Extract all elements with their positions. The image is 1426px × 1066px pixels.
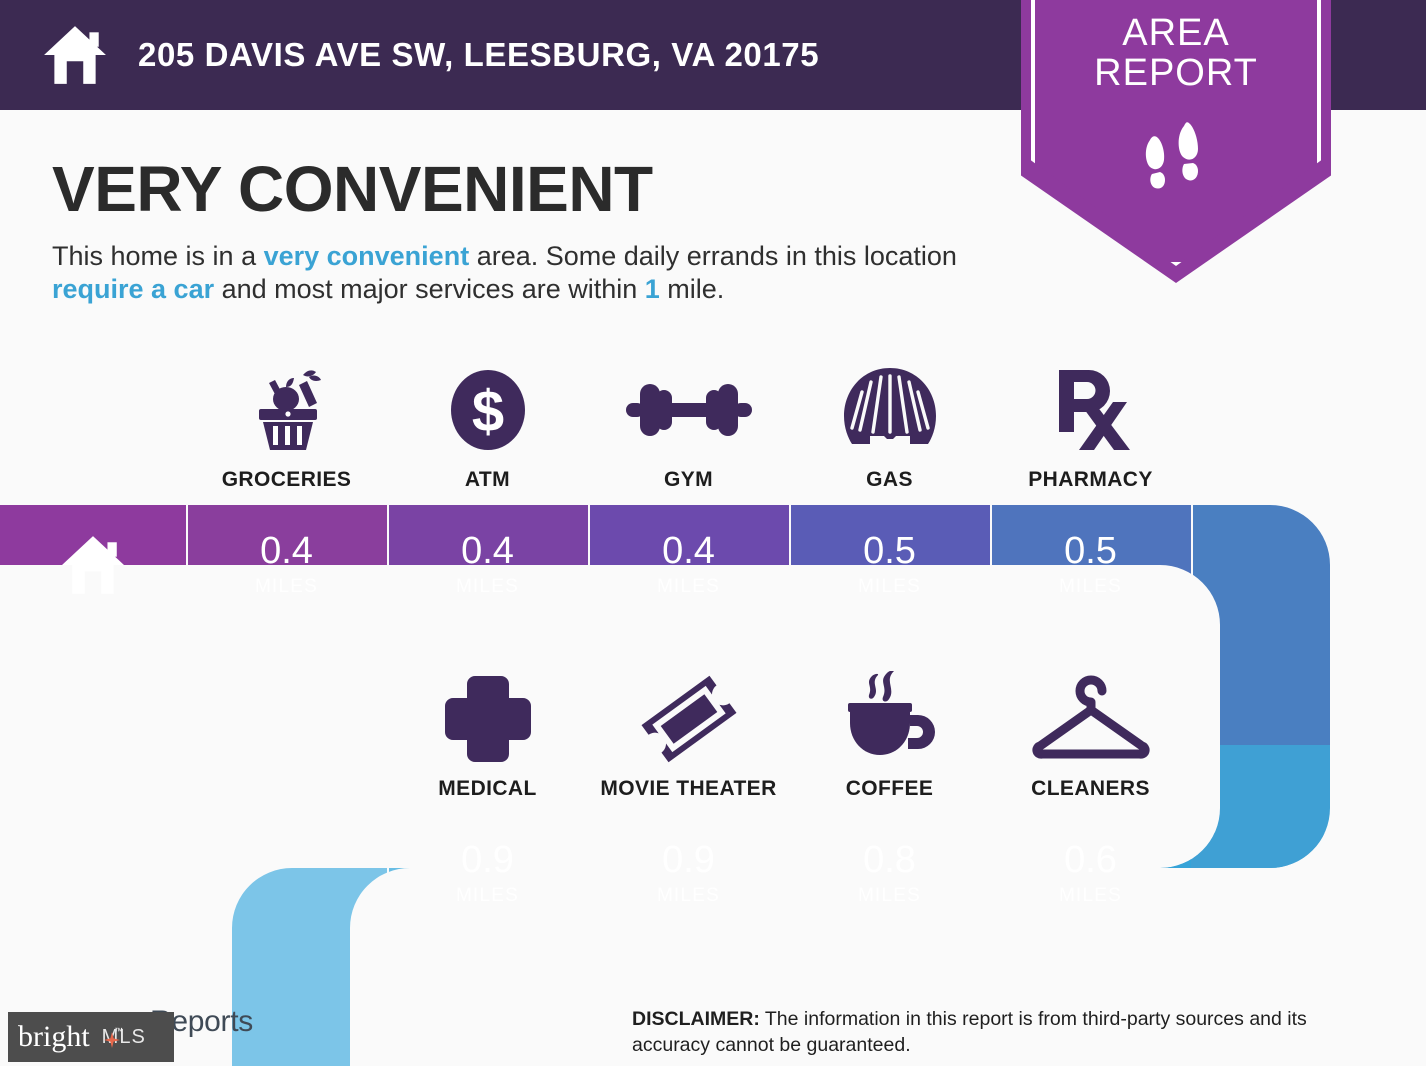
rx-icon [1043,362,1139,458]
summary-text-2: area. Some daily errands in this locatio… [469,241,957,271]
grocery-basket-icon [239,362,335,458]
segment-medical [389,833,588,933]
amenity-label: PHARMACY [1028,468,1153,492]
dollar-circle-icon: $ [443,362,533,458]
amenity-label: GROCERIES [222,468,352,492]
segment-movie-theater [590,833,789,933]
badge-title-line1: AREA [1021,14,1331,54]
amenity-icon-row-1: GROCERIES $ ATM [186,362,1191,492]
badge-title: AREA REPORT [1021,14,1331,94]
disclaimer-label: DISCLAIMER: [632,1008,760,1030]
segment-connector-right [1160,625,1426,745]
segment-corner-left-bottom [232,833,387,933]
summary-text-4: mile. [660,274,725,304]
summary-highlight-3: 1 [645,274,660,304]
amenity-gas: GAS [789,362,990,492]
page-title: VERY CONVENIENT [52,152,653,226]
summary-highlight-2: require a car [52,274,214,304]
segment-tail-right [1193,833,1426,933]
home-icon [57,534,129,596]
disclaimer: DISCLAIMER: The information in this repo… [632,1007,1377,1058]
segment-atm [389,503,588,625]
summary-text-3: and most major services are within [214,274,645,304]
logo-wordmark: bright [18,1020,90,1054]
footprints-icon [1136,118,1216,193]
segment-tail-left [232,928,387,1066]
segment-corner-right-top [1193,503,1426,625]
amenity-label: GYM [664,468,713,492]
segment-gas [791,503,990,625]
segment-gym [590,503,789,625]
shell-icon [840,362,940,458]
summary-text-1: This home is in a [52,241,264,271]
segment-groceries [188,503,387,625]
logo-trademark: ™ [114,1026,123,1036]
distance-snake-path [0,503,1426,1066]
property-address: 205 DAVIS AVE SW, LEESBURG, VA 20175 [138,36,819,74]
amenity-label: GAS [866,468,913,492]
amenity-atm: $ ATM [387,362,588,492]
segment-cleaners [992,833,1191,933]
home-icon [42,24,108,86]
summary-highlight-1: very convenient [264,241,470,271]
svg-text:$: $ [471,379,503,444]
segment-pharmacy [992,503,1191,625]
badge-title-line2: REPORT [1021,54,1331,94]
summary-text: This home is in a very convenient area. … [52,240,1012,306]
bright-mls-logo: bright ™ MLS [8,1012,174,1062]
segment-coffee [791,833,990,933]
home-marker [0,508,186,622]
amenity-label: ATM [465,468,510,492]
area-report-page: 205 DAVIS AVE SW, LEESBURG, VA 20175 ARE… [0,0,1426,1066]
amenity-pharmacy: PHARMACY [990,362,1191,492]
dumbbell-icon [624,362,754,458]
amenity-gym: GYM [588,362,789,492]
amenity-groceries: GROCERIES [186,362,387,492]
